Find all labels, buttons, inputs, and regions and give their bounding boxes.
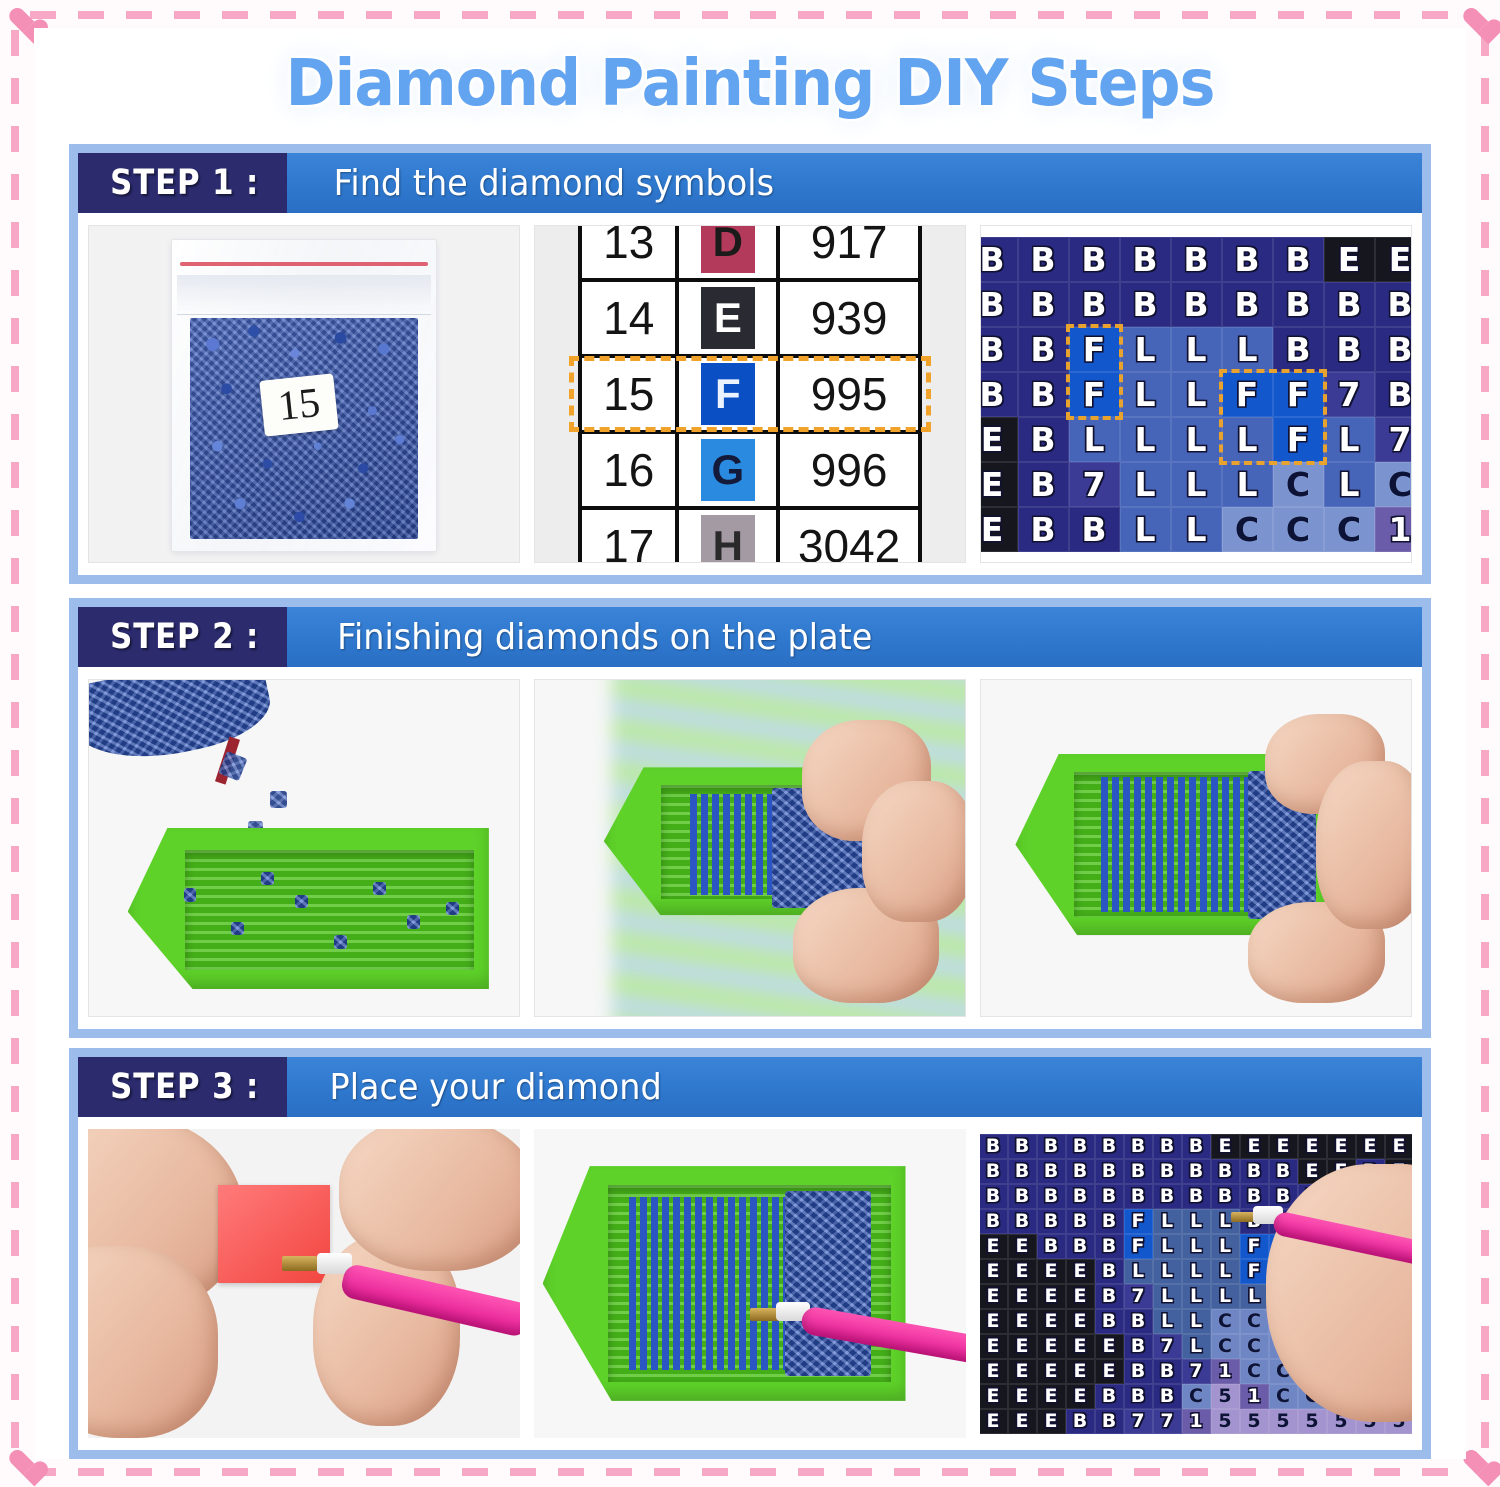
- legend-row: 14E939: [582, 282, 918, 358]
- grid-cell: 5: [1298, 1409, 1327, 1434]
- grid-cell: C: [1324, 507, 1375, 552]
- grid-cell: C: [1222, 507, 1273, 552]
- grid-cell: B: [1124, 1309, 1153, 1334]
- grid-cell: 7: [1153, 1409, 1182, 1434]
- grid-cell: B: [1375, 372, 1413, 417]
- grid-cell: 5: [1269, 1409, 1298, 1434]
- pen-nib: [282, 1256, 317, 1271]
- step-3-title: Place your diamond: [287, 1057, 674, 1117]
- grid-cell: E: [1066, 1384, 1095, 1409]
- grid-cell: B: [1095, 1384, 1124, 1409]
- grid-cell: B: [1018, 237, 1069, 282]
- grid-cell: B: [1120, 282, 1171, 327]
- hand-side: [862, 781, 966, 922]
- grid-cell: F: [1069, 327, 1120, 372]
- grid-cell: L: [1171, 507, 1222, 552]
- grid-cell: E: [1008, 1359, 1037, 1384]
- grid-cell: E: [980, 1334, 1008, 1359]
- place-bead-on-canvas-icon: BBBBBBBBEEEEEEEBBBBBBBBBBBEEBEBBBBBBBBBB…: [980, 1129, 1412, 1438]
- grid-cell: B: [1153, 1134, 1182, 1159]
- grid-cell: B: [1124, 1134, 1153, 1159]
- tray-bead-e: [373, 882, 386, 895]
- grid-cell: L: [1120, 462, 1171, 507]
- grid-cell: B: [1066, 1234, 1095, 1259]
- grid-cell: E: [1066, 1359, 1095, 1384]
- legend-scene: 13D91714E93915F99516G99617H3042: [535, 226, 965, 562]
- tray-bead-d: [334, 935, 347, 948]
- grid-cell: L: [1153, 1284, 1182, 1309]
- grid-cell: E: [980, 1359, 1008, 1384]
- legend-row: 13D917: [582, 225, 918, 282]
- bead-pile: [785, 1191, 871, 1376]
- grid-cell: 7: [1069, 462, 1120, 507]
- step-1-title: Find the diamond symbols: [287, 153, 791, 213]
- shake-tray-icon: [535, 680, 965, 1016]
- grid-cell: L: [1182, 1309, 1211, 1334]
- grid-cell: L: [1153, 1234, 1182, 1259]
- tray-bead-g: [261, 872, 274, 885]
- grid-cell: E: [1211, 1134, 1240, 1159]
- grid-cell: B: [1324, 282, 1375, 327]
- legend-row-code: 996: [780, 443, 918, 497]
- grid-cell: B: [1153, 1384, 1182, 1409]
- grid-cell: 1: [1375, 507, 1413, 552]
- grid-cell: B: [1066, 1409, 1095, 1434]
- legend-row-code: 917: [780, 225, 918, 269]
- grid-cell: C: [1269, 1384, 1298, 1409]
- grid-cell: B: [980, 1134, 1008, 1159]
- grid-cell: B: [1066, 1184, 1095, 1209]
- step-1-title-label: Find the diamond symbols: [334, 163, 774, 204]
- step-3-header: STEP 3 : Place your diamond: [78, 1057, 1422, 1117]
- grid-cell: E: [1008, 1309, 1037, 1334]
- tray-bead-a: [184, 888, 197, 901]
- legend-symbol-chip: G: [701, 439, 755, 501]
- legend-symbol-chip: F: [701, 363, 755, 425]
- page-title-wrap: Diamond Painting DIY Steps: [34, 32, 1466, 136]
- grid-cell: E: [1037, 1284, 1066, 1309]
- grid-cell: E: [1385, 1134, 1413, 1159]
- pen-pick-bead-pane: [534, 1129, 966, 1438]
- grid-cell: C: [1273, 462, 1324, 507]
- grid-cell: B: [1171, 282, 1222, 327]
- grid-cell: F: [1124, 1209, 1153, 1234]
- grid-cell: C: [1211, 1309, 1240, 1334]
- grid-cell: B: [1222, 282, 1273, 327]
- grid-cell: E: [1356, 1134, 1385, 1159]
- grid-cell: E: [1066, 1284, 1095, 1309]
- grid-cell: E: [1095, 1359, 1124, 1384]
- symbol-legend-pane: 13D91714E93915F99516G99617H3042: [534, 225, 966, 563]
- step-1-tag: STEP 1 :: [78, 153, 287, 213]
- step-3-body: BBBBBBBBEEEEEEEBBBBBBBBBBBEEBEBBBBBBBBBB…: [78, 1117, 1422, 1450]
- legend-row-symbol-cell: E: [679, 282, 780, 354]
- grid-cell: E: [1066, 1334, 1095, 1359]
- legend-row-code: 939: [780, 291, 918, 345]
- grid-cell: L: [1211, 1284, 1240, 1309]
- grid-cell: E: [980, 417, 1018, 462]
- grid-cell: E: [1037, 1309, 1066, 1334]
- place-bead-on-canvas-pane: BBBBBBBBEEEEEEEBBBBBBBBBBBEEBEBBBBBBBBBB…: [980, 1129, 1412, 1438]
- step-1-block: STEP 1 : Find the diamond symbols 15: [69, 144, 1431, 584]
- pour-beads-into-tray-icon: [89, 680, 519, 1016]
- grid-cell: E: [980, 507, 1018, 552]
- grid-cell: B: [1153, 1359, 1182, 1384]
- grid-cell: B: [1008, 1159, 1037, 1184]
- legend-row-symbol-cell: F: [679, 358, 780, 430]
- grid-cell: L: [1153, 1309, 1182, 1334]
- grid-cell: E: [1008, 1409, 1037, 1434]
- grid-cell: B: [1124, 1359, 1153, 1384]
- grid-cell: L: [1120, 327, 1171, 372]
- grid-cell: L: [1124, 1259, 1153, 1284]
- bead-rows: [1101, 777, 1264, 911]
- grid-cell: B: [1153, 1184, 1182, 1209]
- grid-cell: B: [980, 372, 1018, 417]
- grid-cell: B: [1153, 1159, 1182, 1184]
- grid-cell: 1: [1240, 1384, 1269, 1409]
- grid-cell: L: [1182, 1234, 1211, 1259]
- grid-cell: B: [1037, 1134, 1066, 1159]
- grid-cell: B: [1037, 1234, 1066, 1259]
- grid-cell: 7: [1182, 1359, 1211, 1384]
- grid-cell: B: [1037, 1159, 1066, 1184]
- grid-cell: F: [1124, 1234, 1153, 1259]
- symbol-legend-table: 13D91714E93915F99516G99617H3042: [578, 225, 922, 563]
- grid-cell: E: [980, 1234, 1008, 1259]
- heart-icon-bottom-right: [1462, 1450, 1492, 1477]
- tray-grooves: [185, 850, 474, 969]
- grid-cell: L: [1171, 327, 1222, 372]
- grid-cell: F: [1240, 1234, 1269, 1259]
- grid-cell: E: [1240, 1134, 1269, 1159]
- grid-cell: E: [1037, 1359, 1066, 1384]
- frame-dash-right: [1481, 30, 1489, 1458]
- step-3-tag: STEP 3 :: [78, 1057, 287, 1117]
- grid-cell: E: [1066, 1309, 1095, 1334]
- grid-cell: C: [1211, 1334, 1240, 1359]
- pen-pick-bead-from-tray-icon: [534, 1129, 966, 1438]
- grid-cell: B: [980, 1209, 1008, 1234]
- grid-cell: B: [1375, 282, 1413, 327]
- grid-cell: B: [1018, 372, 1069, 417]
- grid-cell: C: [1240, 1334, 1269, 1359]
- grid-cell: L: [1120, 507, 1171, 552]
- grid-cell: 5: [1240, 1409, 1269, 1434]
- legend-row: 15F995: [582, 358, 918, 434]
- grid-cell: E: [1037, 1334, 1066, 1359]
- grid-cell: B: [1273, 327, 1324, 372]
- grid-cell: L: [1211, 1234, 1240, 1259]
- grid-cell: E: [1037, 1384, 1066, 1409]
- grid-cell: 1: [1211, 1359, 1240, 1384]
- grid-cell: L: [1120, 417, 1171, 462]
- step-1-tag-label: STEP 1 :: [110, 163, 259, 203]
- legend-row-number: 13: [582, 225, 679, 278]
- grid-cell: E: [1327, 1134, 1356, 1159]
- grid-cell: E: [1375, 237, 1413, 282]
- grid-cell: 7: [1153, 1334, 1182, 1359]
- grid-cell: B: [1269, 1159, 1298, 1184]
- tilted-bag: [88, 679, 277, 774]
- grid-cell: L: [1240, 1284, 1269, 1309]
- step-2-header: STEP 2 : Finishing diamonds on the plate: [78, 607, 1422, 667]
- grid-cell: B: [1095, 1134, 1124, 1159]
- legend-row: 16G996: [582, 434, 918, 510]
- grid-cell: C: [1240, 1359, 1269, 1384]
- tray-bead-f: [407, 915, 420, 928]
- canvas-grid-wrap: BBBBBBBEEBBBBBBBBBBBFLLLBBBBBFLLFF7BEBLL…: [980, 237, 1412, 552]
- grid-cell: B: [1182, 1159, 1211, 1184]
- grid-cell: E: [980, 1259, 1008, 1284]
- grid-cell: L: [1222, 417, 1273, 462]
- grid-cell: L: [1182, 1209, 1211, 1234]
- grid-cell: B: [1124, 1384, 1153, 1409]
- grid-cell: B: [1222, 237, 1273, 282]
- grid-cell: C: [1273, 507, 1324, 552]
- frame-dash-left: [11, 30, 19, 1458]
- grid-cell: L: [1171, 417, 1222, 462]
- grid-cell: B: [1066, 1134, 1095, 1159]
- grid-cell: L: [1120, 372, 1171, 417]
- grid-cell: E: [1037, 1259, 1066, 1284]
- grid-cell: B: [1069, 507, 1120, 552]
- grid-cell: 7: [1324, 372, 1375, 417]
- zip-bag: 15: [171, 239, 438, 551]
- step-2-title-label: Finishing diamonds on the plate: [338, 617, 873, 658]
- grid-cell: L: [1324, 462, 1375, 507]
- grid-cell: F: [1069, 372, 1120, 417]
- grid-cell: E: [1095, 1334, 1124, 1359]
- grid-cell: B: [1008, 1209, 1037, 1234]
- grid-cell: 7: [1375, 417, 1413, 462]
- legend-symbol-chip: H: [701, 515, 755, 563]
- grid-cell: L: [1182, 1334, 1211, 1359]
- pink-heart-frame: Diamond Painting DIY Steps STEP 1 : Find…: [0, 0, 1500, 1487]
- step-3-tag-label: STEP 3 :: [110, 1067, 259, 1107]
- grid-cell: B: [1095, 1309, 1124, 1334]
- heart-icon-top-right: [1462, 8, 1492, 35]
- grid-cell: 7: [1124, 1409, 1153, 1434]
- page-title: Diamond Painting DIY Steps: [286, 47, 1215, 121]
- grid-cell: B: [1240, 1184, 1269, 1209]
- grid-cell: B: [1018, 417, 1069, 462]
- grid-cell: C: [1240, 1309, 1269, 1334]
- legend-row-symbol-cell: G: [679, 434, 780, 506]
- grid-cell: L: [1171, 372, 1222, 417]
- grid-cell: F: [1273, 417, 1324, 462]
- grid-cell: B: [980, 282, 1018, 327]
- legend-row-code: 3042: [780, 519, 918, 563]
- bead-bag-icon: 15: [89, 226, 519, 562]
- grid-cell: E: [1066, 1259, 1095, 1284]
- grid-cell: B: [1095, 1184, 1124, 1209]
- grid-cell: B: [1120, 237, 1171, 282]
- infographic-card: Diamond Painting DIY Steps STEP 1 : Find…: [34, 28, 1466, 1459]
- grid-cell: B: [1375, 327, 1413, 372]
- legend-row: 17H3042: [582, 510, 918, 563]
- grid-cell: B: [1273, 282, 1324, 327]
- legend-row-number: 17: [582, 510, 679, 563]
- grid-cell: B: [1066, 1209, 1095, 1234]
- step-3-block: STEP 3 : Place your diamond: [69, 1048, 1431, 1459]
- grid-cell: L: [1153, 1209, 1182, 1234]
- grid-cell: B: [1018, 327, 1069, 372]
- grid-cell: E: [980, 1284, 1008, 1309]
- grid-cell: E: [1269, 1134, 1298, 1159]
- grid-cell: E: [1008, 1284, 1037, 1309]
- step-2-block: STEP 2 : Finishing diamonds on the plate: [69, 598, 1431, 1038]
- grid-cell: E: [1037, 1409, 1066, 1434]
- aligned-beads-tray-icon: [981, 680, 1411, 1016]
- grid-cell: B: [1095, 1234, 1124, 1259]
- bag-fold: [177, 275, 431, 315]
- grid-cell: 7: [1124, 1284, 1153, 1309]
- grid-cell: C: [1375, 462, 1413, 507]
- bead-bag-pane: 15: [88, 225, 520, 563]
- step-1-header: STEP 1 : Find the diamond symbols: [78, 153, 1422, 213]
- grid-cell: B: [980, 1184, 1008, 1209]
- tray-bead-b: [231, 922, 244, 935]
- grid-cell: B: [1095, 1284, 1124, 1309]
- grid-cell: B: [980, 237, 1018, 282]
- grid-cell: E: [1324, 237, 1375, 282]
- grid-cell: E: [980, 462, 1018, 507]
- green-tray: [128, 828, 489, 989]
- grid-cell: 5: [1211, 1409, 1240, 1434]
- legend-symbol-chip: D: [701, 225, 755, 273]
- shake-tray-pane: [534, 679, 966, 1017]
- frame-dash-bottom: [30, 1468, 1470, 1476]
- grid-cell: E: [980, 1409, 1008, 1434]
- grid-cell: B: [1008, 1184, 1037, 1209]
- grid-cell: L: [1211, 1259, 1240, 1284]
- grid-cell: B: [1095, 1259, 1124, 1284]
- grid-cell: B: [1095, 1209, 1124, 1234]
- grid-cell: B: [1124, 1159, 1153, 1184]
- grid-cell: B: [1069, 282, 1120, 327]
- grid-cell: F: [1222, 372, 1273, 417]
- grid-cell: L: [1222, 327, 1273, 372]
- grid-cell: F: [1240, 1259, 1269, 1284]
- canvas-grid-scene: BBBBBBBEEBBBBBBBBBBBFLLLBBBBBFLLFF7BEBLL…: [981, 226, 1411, 562]
- hand-side: [1316, 761, 1412, 929]
- legend-row-code: 995: [780, 367, 918, 421]
- step-1-body: 15 13D91714E93915F99516G99617H3042 BBBBB…: [78, 213, 1422, 575]
- tray-bead-c: [295, 895, 308, 908]
- legend-symbol-chip: E: [701, 287, 755, 349]
- canvas-grid-pane: BBBBBBBEEBBBBBBBBBBBFLLLBBBBBFLLFF7BEBLL…: [980, 225, 1412, 563]
- grid-cell: L: [1222, 462, 1273, 507]
- legend-row-symbol-cell: D: [679, 225, 780, 278]
- grid-cell: B: [1124, 1184, 1153, 1209]
- grid-cell: B: [1037, 1184, 1066, 1209]
- step-2-body: [78, 667, 1422, 1029]
- grid-cell: B: [1182, 1134, 1211, 1159]
- pen-dip-wax-pane: [88, 1129, 520, 1438]
- grid-cell: L: [1069, 417, 1120, 462]
- grid-cell: B: [980, 327, 1018, 372]
- grid-cell: B: [1211, 1159, 1240, 1184]
- grid-cell: B: [1124, 1334, 1153, 1359]
- grid-cell: B: [1018, 462, 1069, 507]
- grid-cell: L: [1182, 1284, 1211, 1309]
- grid-cell: E: [1008, 1259, 1037, 1284]
- grid-cell: B: [1171, 237, 1222, 282]
- grid-cell: L: [1153, 1259, 1182, 1284]
- grid-cell: B: [1240, 1159, 1269, 1184]
- grid-cell: E: [1008, 1234, 1037, 1259]
- grid-cell: E: [980, 1384, 1008, 1409]
- step-2-tag: STEP 2 :: [78, 607, 287, 667]
- grid-cell: 5: [1211, 1384, 1240, 1409]
- grid-cell: B: [1324, 327, 1375, 372]
- legend-row-number: 15: [582, 358, 679, 430]
- bag-number-label: 15: [259, 373, 339, 436]
- grid-cell: B: [1273, 237, 1324, 282]
- aligned-beads-pane: [980, 679, 1412, 1017]
- zip-seal: [180, 262, 429, 266]
- tray-bead-h: [446, 902, 459, 915]
- grid-cell: E: [980, 1309, 1008, 1334]
- grid-cell: B: [1211, 1184, 1240, 1209]
- falling-bead-2: [270, 791, 287, 808]
- grid-cell: B: [1066, 1159, 1095, 1184]
- legend-row-number: 14: [582, 282, 679, 354]
- grid-cell: C: [1182, 1384, 1211, 1409]
- grid-cell: B: [1182, 1184, 1211, 1209]
- grid-cell: B: [980, 1159, 1008, 1184]
- grid-cell: L: [1324, 417, 1375, 462]
- grid-cell: E: [1298, 1134, 1327, 1159]
- grid-cell: B: [1069, 237, 1120, 282]
- step-2-tag-label: STEP 2 :: [110, 617, 259, 657]
- grid-cell: B: [1095, 1409, 1124, 1434]
- grid-cell: B: [1095, 1159, 1124, 1184]
- grid-cell: L: [1182, 1259, 1211, 1284]
- grid-cell: E: [1008, 1384, 1037, 1409]
- grid-cell: 1: [1182, 1409, 1211, 1434]
- legend-row-symbol-cell: H: [679, 510, 780, 563]
- grid-cell: B: [1018, 507, 1069, 552]
- frame-dash-top: [30, 11, 1470, 19]
- grid-cell: B: [1037, 1209, 1066, 1234]
- canvas-grid-wrap-3: BBBBBBBBEEEEEEEBBBBBBBBBBBEEBEBBBBBBBBBB…: [980, 1134, 1412, 1434]
- pour-beads-pane: [88, 679, 520, 1017]
- grid-cell: B: [1018, 282, 1069, 327]
- grid-cell: F: [1273, 372, 1324, 417]
- canvas-symbol-grid: BBBBBBBEEBBBBBBBBBBBFLLLBBBBBFLLFF7BEBLL…: [980, 237, 1412, 552]
- pen-dip-wax-icon: [88, 1129, 520, 1438]
- grid-cell: L: [1171, 462, 1222, 507]
- hand-right-upper: [339, 1129, 520, 1271]
- step-3-title-label: Place your diamond: [330, 1067, 662, 1108]
- step-2-title: Finishing diamonds on the plate: [287, 607, 892, 667]
- bead-rows: [629, 1197, 802, 1370]
- grid-cell: E: [1008, 1334, 1037, 1359]
- grid-cell: B: [1008, 1134, 1037, 1159]
- legend-row-number: 16: [582, 434, 679, 506]
